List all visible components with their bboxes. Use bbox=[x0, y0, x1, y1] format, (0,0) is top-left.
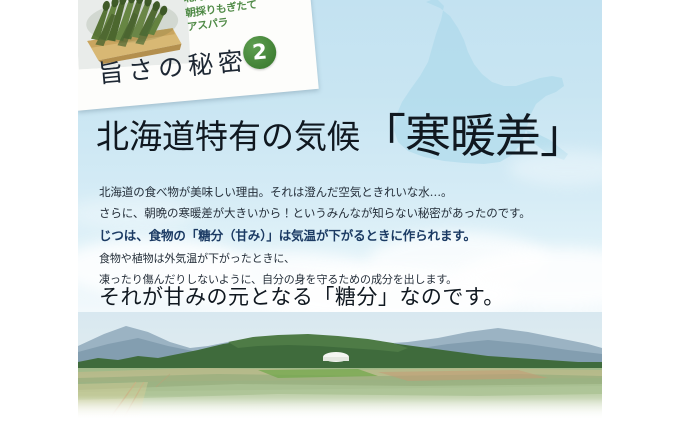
promo-page: 北海道富良野産の 朝採りもぎたて アスパラ 旨さの秘密 2 北海道特有の気候「寒… bbox=[0, 0, 680, 421]
secret-badge-card: 北海道富良野産の 朝採りもぎたて アスパラ 旨さの秘密 2 bbox=[78, 0, 319, 111]
headline-emphasis: 「寒暖差」 bbox=[360, 109, 585, 163]
body-line: 食物や植物は外気温が下がったときに、 bbox=[99, 248, 579, 269]
hokkaido-map-silhouette-icon bbox=[340, 0, 602, 194]
body-line: さらに、朝晩の寒暖差が大きいから！というみんなが知らない秘密があったのです。 bbox=[99, 203, 579, 224]
body-copy: 北海道の食べ物が美味しい理由。それは澄んだ空気ときれいな水…。 さらに、朝晩の寒… bbox=[99, 182, 579, 290]
conclusion-text: それが甘みの元となる「糖分」なのです。 bbox=[99, 281, 505, 311]
page-headline: 北海道特有の気候「寒暖差」 bbox=[96, 113, 596, 160]
badge-handwritten-text: 北海道富良野産の 朝採りもぎたて アスパラ bbox=[183, 0, 311, 35]
body-line: 北海道の食べ物が美味しい理由。それは澄んだ空気ときれいな水…。 bbox=[99, 182, 579, 203]
body-line-highlight: じつは、食物の「糖分（甘み）」は気温が下がるときに作られます。 bbox=[99, 224, 579, 248]
furano-farmland-landscape-photo bbox=[78, 312, 602, 421]
badge-inner: 北海道富良野産の 朝採りもぎたて アスパラ 旨さの秘密 2 bbox=[78, 0, 319, 111]
headline-prefix: 北海道特有の気候 bbox=[96, 117, 360, 156]
promo-content-band: 北海道富良野産の 朝採りもぎたて アスパラ 旨さの秘密 2 北海道特有の気候「寒… bbox=[78, 0, 602, 421]
